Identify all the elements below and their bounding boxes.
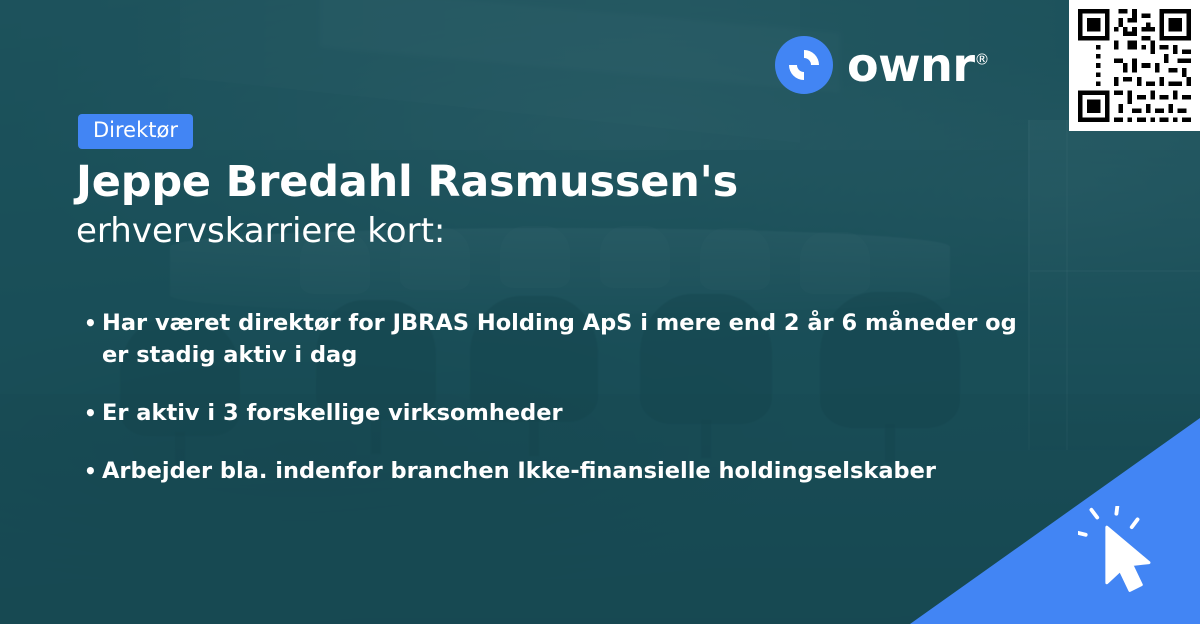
list-item-text: Er aktiv i 3 forskellige virksomheder: [102, 398, 1044, 430]
profile-card: ownr®: [0, 0, 1200, 624]
ownr-circle-logo-icon: [775, 36, 833, 94]
list-item-text: Har været direktør for JBRAS Holding ApS…: [102, 308, 1044, 372]
brand-name-text: ownr: [847, 38, 975, 92]
bullet-dot-icon: •: [84, 398, 102, 428]
bullet-dot-icon: •: [84, 456, 102, 486]
brand-logo[interactable]: ownr®: [775, 36, 989, 94]
title-line-1: Jeppe Bredahl Rasmussen's: [76, 157, 738, 207]
page-title: Jeppe Bredahl Rasmussen's erhvervskarrie…: [76, 156, 976, 252]
list-item: • Har været direktør for JBRAS Holding A…: [84, 308, 1044, 372]
registered-mark: ®: [975, 51, 990, 69]
click-cursor-icon: [1078, 506, 1174, 602]
list-item: • Er aktiv i 3 forskellige virksomheder: [84, 398, 1044, 430]
title-line-2: erhvervskarriere kort:: [76, 210, 976, 253]
brand-name: ownr®: [847, 42, 989, 88]
role-badge: Direktør: [78, 114, 193, 149]
qr-code[interactable]: [1069, 0, 1200, 131]
list-item: • Arbejder bla. indenfor branchen Ikke-f…: [84, 456, 1044, 488]
career-summary-list: • Har været direktør for JBRAS Holding A…: [84, 308, 1044, 514]
list-item-text: Arbejder bla. indenfor branchen Ikke-fin…: [102, 456, 1044, 488]
bullet-dot-icon: •: [84, 308, 102, 338]
